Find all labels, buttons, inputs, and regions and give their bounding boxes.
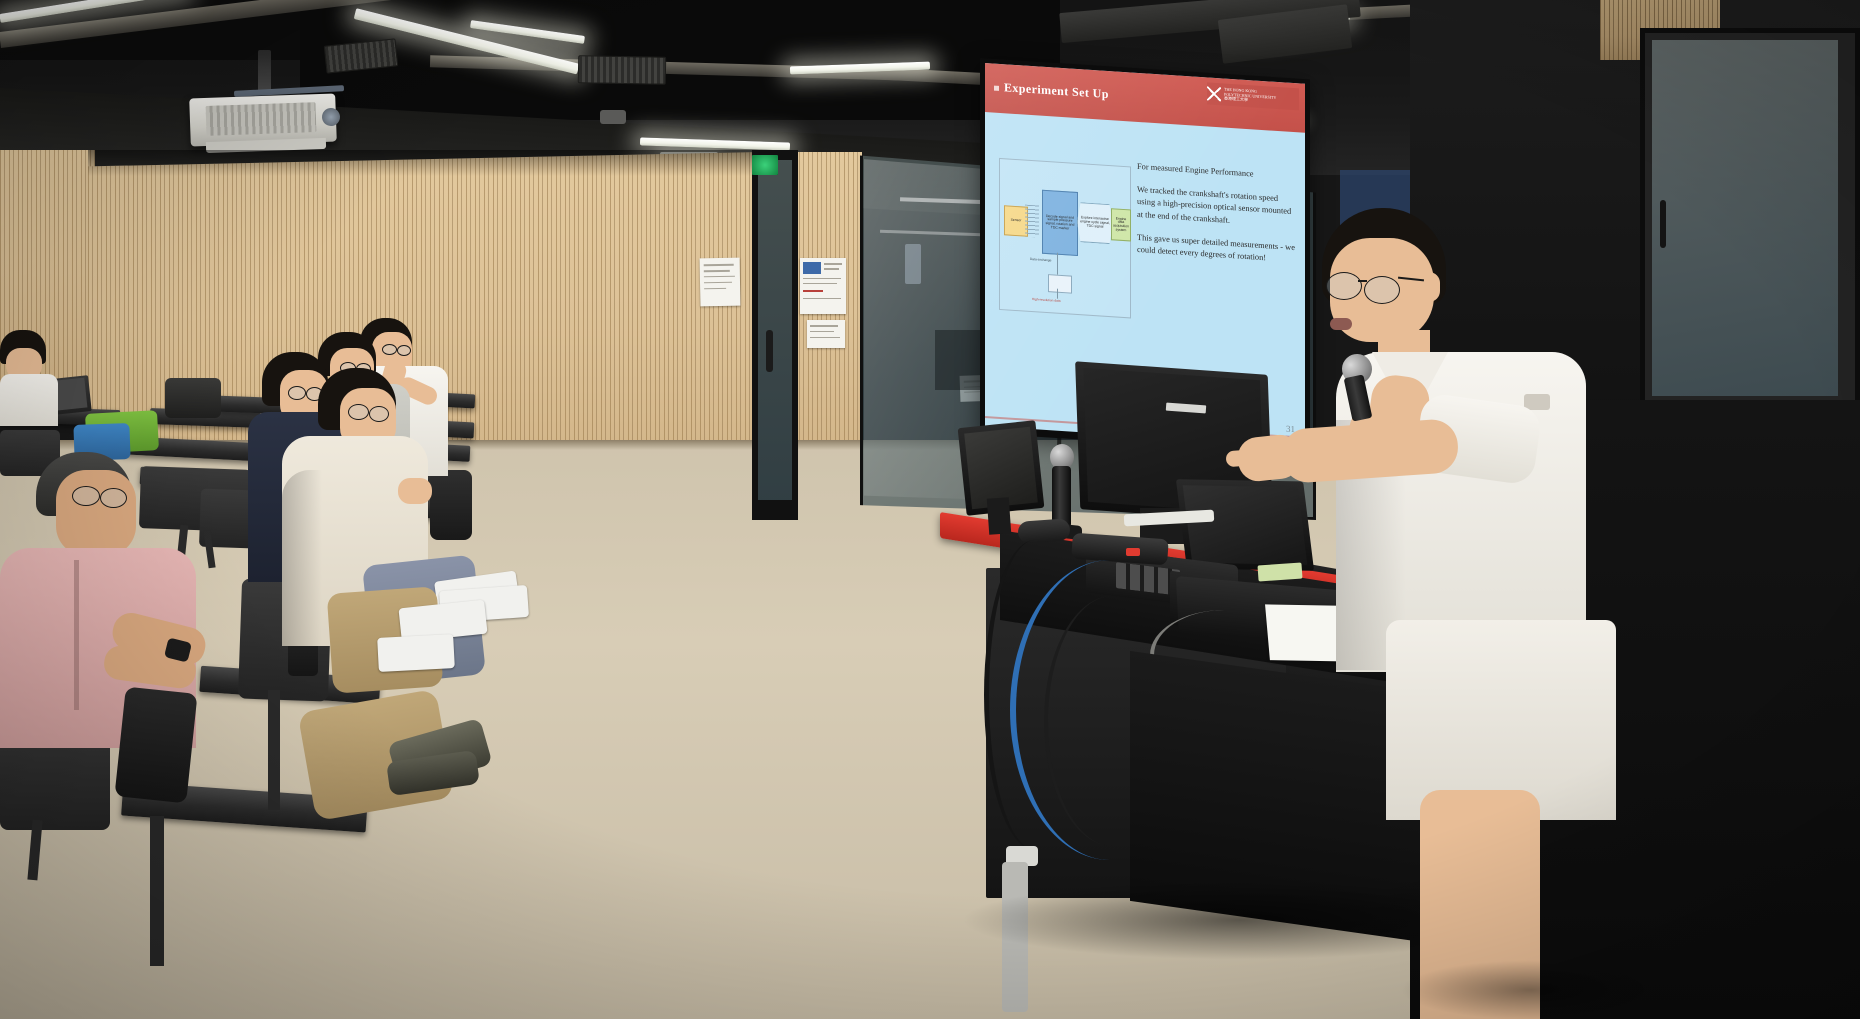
senior-glasses-icon: [72, 486, 100, 506]
bag-on-desk: [165, 378, 221, 418]
projector-mount: [258, 50, 271, 94]
slide-flowchart: Sensor Decode signal and sample pressure…: [999, 158, 1131, 319]
ceiling-vent-2: [578, 55, 666, 85]
right-door-handle-icon[interactable]: [1660, 200, 1666, 248]
presenter-shadow: [1400, 960, 1660, 1019]
flowchart-node-analog: Explore interactive engine cycle signal,…: [1077, 202, 1113, 244]
presenter-glasses-icon-left: [1326, 272, 1362, 300]
exit-sign: [752, 155, 778, 175]
senior-bag-strap: [114, 687, 197, 804]
door-handle-icon[interactable]: [766, 330, 773, 372]
interior-sign-text: [905, 244, 921, 284]
wall-notice-2: [800, 258, 846, 314]
exit-sign-glow: [752, 155, 778, 175]
presenter-glasses-bridge: [1358, 280, 1367, 282]
khaki-shoe-2: [377, 634, 455, 672]
polyu-logo-mark: [1207, 86, 1221, 101]
flowchart-arrow-down-2: [1057, 289, 1058, 299]
slide-paragraph-2: We tracked the crankshaft's rotation spe…: [1137, 184, 1295, 231]
flowchart-node-daq: Engine data acquisition system: [1111, 208, 1131, 241]
cream-jacket-shadow: [282, 470, 322, 646]
presenter-ear: [1418, 272, 1440, 302]
slide-text-body: For measured Engine Performance We track…: [1137, 161, 1295, 277]
senior-glasses-icon-2: [100, 488, 127, 508]
right-door-glass[interactable]: [1652, 40, 1838, 396]
flowchart-label-data-exchange: Data exchange: [1030, 257, 1051, 262]
slide-title-bullet-icon: [994, 86, 999, 91]
touch-panel-stand: [987, 497, 1011, 534]
green-sticker: [1257, 562, 1302, 581]
polyu-logo-text: THE HONG KONG POLYTECHNIC UNIVERSITY 香港理…: [1224, 88, 1276, 105]
projector-grille: [206, 102, 317, 136]
senior-face: [56, 470, 136, 556]
second-monitor-screen[interactable]: [1183, 485, 1308, 564]
flowchart-note-red: High-resolution data: [1032, 297, 1061, 303]
senior-shirt-placket: [74, 560, 79, 710]
flowchart-arrow-down: [1057, 253, 1058, 275]
navy-glasses-icon: [288, 386, 306, 400]
cream-hand: [398, 478, 432, 504]
presenter-index-finger: [1225, 449, 1262, 467]
desk-post-1: [268, 690, 280, 810]
slide-paragraph-3: This gave us super detailed measurements…: [1137, 232, 1295, 267]
flowchart-node-decode: Decode signal and sample pressure signal…: [1042, 190, 1078, 256]
audience-back-left-shirt: [0, 374, 58, 426]
flowchart-node-lower: [1048, 274, 1072, 294]
classroom-scene: Experiment Set Up THE HONG KONG POLYTECH…: [0, 0, 1860, 1019]
red-indicator-light: [1126, 548, 1140, 556]
white-tee-glasses-icon-2: [397, 345, 411, 356]
white-tee-glasses-icon: [382, 344, 397, 355]
presenter-glasses-icon-right: [1364, 276, 1400, 304]
wall-notice-1: [700, 258, 741, 307]
cream-glasses-icon: [348, 404, 369, 420]
wall-notice-3: [807, 320, 845, 348]
backpack-floor: [430, 470, 472, 540]
wall-top-shadow: [88, 150, 760, 176]
presenter-mouth: [1330, 318, 1352, 330]
flowchart-connector-1: [1025, 205, 1039, 238]
interior-dark-box: [935, 330, 985, 390]
ceiling-void-center: [300, 0, 1060, 120]
door-glass[interactable]: [758, 160, 792, 500]
slide-paragraph-1: For measured Engine Performance: [1137, 161, 1295, 183]
ceiling-speaker: [600, 110, 626, 124]
cream-glasses-icon-2: [369, 406, 389, 422]
desk-post-2: [150, 816, 164, 966]
